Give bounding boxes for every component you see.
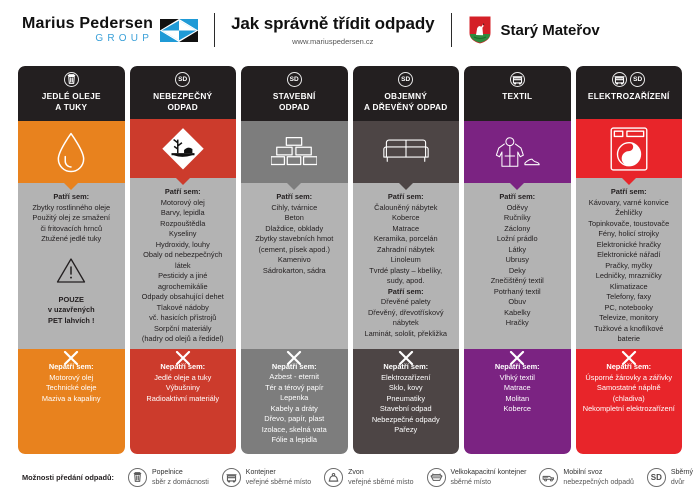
- belongs-sublabel: Patří sem:: [356, 287, 457, 298]
- belongs-item: Ložní prádlo: [467, 234, 568, 245]
- not-belongs-item: Radioaktivní materiály: [133, 394, 234, 405]
- legend-item: Popelnice sběr z domácnosti: [128, 468, 209, 487]
- not-belongs-item: Fólie a lepidla: [244, 435, 345, 446]
- legend-text: Zvon veřejné sběrné místo: [348, 468, 413, 487]
- waste-category-column[interactable]: SD NEBEZPEČNÝODPAD Patří sem: Motorový o…: [130, 66, 237, 454]
- belongs-section: Patří sem: Čalouněný nábytekKoberceMatra…: [353, 183, 460, 349]
- belongs-item: Použitý olej ze smažení: [21, 213, 122, 224]
- legend-subtitle: dvůr: [671, 478, 693, 487]
- column-title: JEDLÉ OLEJEA TUKY: [42, 91, 101, 112]
- belongs-item: Dřevěné palety: [356, 297, 457, 308]
- sd-badge: SD: [647, 468, 666, 487]
- container-icon: [510, 72, 525, 87]
- column-title-line: OBJEMNÝ: [364, 91, 448, 102]
- column-title-line: A TUKY: [42, 102, 101, 113]
- not-belongs-item: Výbušniny: [133, 383, 234, 394]
- legend-subtitle: veřejné sběrné místo: [348, 478, 413, 487]
- not-belongs-section: Nepatří sem: Vlhký textilMatraceMolitanK…: [464, 349, 571, 454]
- page-header: Marius Pedersen GROUP Jak správně třídit…: [0, 0, 700, 60]
- legend-items: Popelnice sběr z domácnosti Kontejner ve…: [128, 468, 700, 487]
- not-belongs-section: Nepatří sem: Jedlé oleje a tukyVýbušniny…: [130, 349, 237, 454]
- not-belongs-section: Nepatří sem: Motorový olejTechnické olej…: [18, 349, 125, 454]
- belongs-item: Topinkovače, toustovače: [579, 219, 680, 230]
- legend-subtitle: sběr z domácnosti: [152, 478, 209, 487]
- column-badges: SD: [398, 72, 413, 87]
- not-belongs-item: Elektrozařízení: [356, 373, 457, 384]
- belongs-label: Patří sem:: [467, 192, 568, 203]
- not-belongs-item: Nekompletní elektrozařízení: [579, 404, 680, 415]
- legend-item: Zvon veřejné sběrné místo: [324, 468, 413, 487]
- column-header: SD OBJEMNÝA DŘEVĚNÝ ODPAD: [353, 66, 460, 121]
- column-title-line: ELEKTROZAŘÍZENÍ: [588, 91, 670, 102]
- column-header: SD STAVEBNÍODPAD: [241, 66, 348, 121]
- belongs-item: Rozpouštědla: [133, 219, 234, 230]
- brand-logo-block: Marius Pedersen GROUP: [22, 16, 198, 44]
- belongs-item: Látky: [467, 245, 568, 256]
- bell-container-icon: [324, 468, 343, 487]
- belongs-item: Linoleum: [356, 255, 457, 266]
- column-title: NEBEZPEČNÝODPAD: [153, 91, 212, 112]
- column-title: OBJEMNÝA DŘEVĚNÝ ODPAD: [364, 91, 448, 112]
- municipality-name: Starý Mateřov: [501, 22, 600, 39]
- belongs-item: Laminát, sololit, překližka: [356, 329, 457, 340]
- belongs-item: Hydroxidy, louhy: [133, 240, 234, 251]
- cross-icon: [63, 351, 79, 365]
- bin-icon: [128, 468, 147, 487]
- not-belongs-section: Nepatří sem: Azbest - eternitTér a térov…: [241, 349, 348, 454]
- legend-title: Popelnice: [152, 468, 209, 477]
- belongs-label: Patří sem:: [579, 187, 680, 198]
- warning-text: POUZEv uzavřenýchPET lahvích !: [48, 295, 95, 327]
- belongs-item: Kyseliny: [133, 229, 234, 240]
- belongs-item: Dřevěný, dřevotřískový: [356, 308, 457, 319]
- sd-badge-label: SD: [178, 76, 187, 83]
- warning-text-line: POUZE: [48, 295, 95, 306]
- page-title: Jak správně třídit odpady: [231, 14, 434, 34]
- not-belongs-item: Tér a térový papír: [244, 383, 345, 394]
- warning-block: POUZEv uzavřenýchPET lahvích !: [21, 257, 122, 327]
- not-belongs-item: Motorový olej: [21, 373, 122, 384]
- belongs-label: Patří sem:: [244, 192, 345, 203]
- belongs-item: Matrace: [356, 224, 457, 235]
- notch-marker: [399, 183, 413, 190]
- legend-title: Zvon: [348, 468, 413, 477]
- cross-icon: [509, 351, 525, 365]
- not-belongs-item: Maziva a kapaliny: [21, 394, 122, 405]
- notch-marker: [510, 183, 524, 190]
- belongs-item: vč. hasicích přístrojů: [133, 313, 234, 324]
- not-belongs-item: (chladiva): [579, 394, 680, 405]
- waste-category-column[interactable]: TEXTIL Patří sem: OděvyRučníkyZáclonyLož…: [464, 66, 571, 454]
- legend-item: SD Sběrný dvůr: [647, 468, 693, 487]
- belongs-item: sudy, apod.: [356, 276, 457, 287]
- belongs-item: Potrhaný textil: [467, 287, 568, 298]
- sd-badge-label: SD: [290, 76, 299, 83]
- column-illustration: [353, 121, 460, 183]
- legend-item: Kontejner veřejné sběrné místo: [222, 468, 311, 487]
- belongs-item: Motorový olej: [133, 198, 234, 209]
- column-badges: SD: [175, 72, 190, 87]
- belongs-item: Oděvy: [467, 203, 568, 214]
- belongs-item: Pračky, myčky: [579, 261, 680, 272]
- column-title: TEXTIL: [502, 91, 532, 102]
- legend-title: Kontejner: [246, 468, 311, 477]
- belongs-item: Televize, monitory: [579, 313, 680, 324]
- belongs-item: látek: [133, 261, 234, 272]
- belongs-item: (cement, písek apod.): [244, 245, 345, 256]
- column-header: SD ELEKTROZAŘÍZENÍ: [576, 66, 683, 119]
- large-container-icon: [427, 468, 446, 487]
- belongs-item: Ručníky: [467, 213, 568, 224]
- not-belongs-item: Azbest - eternit: [244, 372, 345, 383]
- belongs-item: Klimatizace: [579, 282, 680, 293]
- legend-text: Mobilní svoz nebezpečných odpadů: [563, 468, 633, 487]
- column-title-line: ODPAD: [153, 102, 212, 113]
- not-belongs-item: Nebezpečné odpady: [356, 415, 457, 426]
- container-icon: [222, 468, 241, 487]
- belongs-item: baterie: [579, 334, 680, 345]
- belongs-item: Znečištěný textil: [467, 276, 568, 287]
- footer-lead-label: Možnosti předání odpadů:: [22, 473, 114, 482]
- column-title-line: NEBEZPEČNÝ: [153, 91, 212, 102]
- belongs-item: Ztužené jedlé tuky: [21, 234, 122, 245]
- belongs-label: Patří sem:: [356, 192, 457, 203]
- belongs-item: Ledničky, mrazničky: [579, 271, 680, 282]
- not-belongs-item: Pařezy: [356, 425, 457, 436]
- waste-category-column[interactable]: SD OBJEMNÝA DŘEVĚNÝ ODPAD Patří sem: Čal…: [353, 66, 460, 454]
- brand-group: GROUP: [22, 34, 153, 44]
- belongs-item: Tvrdé plasty – kbelíky,: [356, 266, 457, 277]
- belongs-item: Čalouněný nábytek: [356, 203, 457, 214]
- legend-title: Velkokapacitní kontejner: [451, 468, 527, 477]
- header-divider-left: [214, 13, 215, 47]
- waste-category-column[interactable]: SD STAVEBNÍODPAD Patří sem: Cihly, tvárn…: [241, 66, 348, 454]
- belongs-item: či fritovacích hrnců: [21, 224, 122, 235]
- belongs-label: Patří sem:: [133, 187, 234, 198]
- waste-category-column[interactable]: JEDLÉ OLEJEA TUKY Patří sem: Zbytky rost…: [18, 66, 125, 454]
- column-illustration: [464, 121, 571, 183]
- belongs-item: Fény, holicí strojky: [579, 229, 680, 240]
- cross-icon: [286, 351, 302, 365]
- belongs-item: Hračky: [467, 318, 568, 329]
- waste-category-grid: JEDLÉ OLEJEA TUKY Patří sem: Zbytky rost…: [18, 66, 682, 454]
- belongs-section: Patří sem: Cihly, tvárniceBetonDlaždice,…: [241, 183, 348, 349]
- warning-text-line: v uzavřených: [48, 305, 95, 316]
- sd-badge: SD: [175, 72, 190, 87]
- legend-item: Velkokapacitní kontejner sběrné místo: [427, 468, 527, 487]
- not-belongs-section: Nepatří sem: ElektrozařízeníSklo, kovyPn…: [353, 349, 460, 454]
- cross-icon: [398, 351, 414, 365]
- belongs-item: Kamenivo: [244, 255, 345, 266]
- belongs-item: Koberce: [356, 213, 457, 224]
- sd-badge: SD: [398, 72, 413, 87]
- column-illustration: [18, 121, 125, 183]
- belongs-item: Beton: [244, 213, 345, 224]
- legend-title: Sběrný: [671, 468, 693, 477]
- column-illustration: [130, 119, 237, 178]
- waste-sorting-infographic: Marius Pedersen GROUP Jak správně třídit…: [0, 0, 700, 493]
- belongs-item: Dlaždice, obklady: [244, 224, 345, 235]
- column-header: JEDLÉ OLEJEA TUKY: [18, 66, 125, 121]
- notch-marker: [287, 183, 301, 190]
- belongs-item: nábytek: [356, 318, 457, 329]
- legend-text: Velkokapacitní kontejner sběrné místo: [451, 468, 527, 487]
- not-belongs-item: Matrace: [467, 383, 568, 394]
- warning-text-line: PET lahvích !: [48, 316, 95, 327]
- belongs-item: Obuv: [467, 297, 568, 308]
- belongs-item: Tužkové a knoflíkové: [579, 324, 680, 335]
- belongs-item: Keramika, porcelán: [356, 234, 457, 245]
- belongs-item: Elektronické nářadí: [579, 250, 680, 261]
- footer-legend: Možnosti předání odpadů: Popelnice sběr …: [0, 462, 700, 493]
- cross-icon: [621, 351, 637, 365]
- belongs-item: Deky: [467, 266, 568, 277]
- column-title-line: STAVEBNÍ: [273, 91, 316, 102]
- not-belongs-item: Molitan: [467, 394, 568, 405]
- belongs-item: Zahradní nábytek: [356, 245, 457, 256]
- belongs-item: Obaly od nebezpečných: [133, 250, 234, 261]
- not-belongs-item: Pneumatiky: [356, 394, 457, 405]
- legend-text: Popelnice sběr z domácnosti: [152, 468, 209, 487]
- legend-subtitle: veřejné sběrné místo: [246, 478, 311, 487]
- column-title-line: JEDLÉ OLEJE: [42, 91, 101, 102]
- legend-item: Mobilní svoz nebezpečných odpadů: [539, 468, 633, 487]
- belongs-item: Sorpční materiály: [133, 324, 234, 335]
- not-belongs-item: Izolace, skelná vata: [244, 425, 345, 436]
- not-belongs-item: Jedlé oleje a tuky: [133, 373, 234, 384]
- belongs-item: Elektronické hračky: [579, 240, 680, 251]
- belongs-item: Zbytky rostlinného oleje: [21, 203, 122, 214]
- column-title-line: ODPAD: [273, 102, 316, 113]
- belongs-item: Zbytky stavebních hmot: [244, 234, 345, 245]
- municipal-crest-icon: [468, 15, 492, 45]
- column-title-line: TEXTIL: [502, 91, 532, 102]
- belongs-item: Odpady obsahující dehet: [133, 292, 234, 303]
- belongs-item: Kávovary, varné konvice: [579, 198, 680, 209]
- belongs-item: Cihly, tvárnice: [244, 203, 345, 214]
- sd-badge: SD: [287, 72, 302, 87]
- brand-text: Marius Pedersen GROUP: [22, 16, 153, 44]
- website-url: www.mariuspedersen.cz: [231, 37, 434, 46]
- not-belongs-item: Vlhký textil: [467, 373, 568, 384]
- column-title: ELEKTROZAŘÍZENÍ: [588, 91, 670, 102]
- not-belongs-section: Nepatří sem: Úsporné žárovky a zářivkySa…: [576, 349, 683, 454]
- not-belongs-item: Dřevo, papír, plast: [244, 414, 345, 425]
- belongs-item: Sádrokarton, sádra: [244, 266, 345, 277]
- belongs-item: Ubrusy: [467, 255, 568, 266]
- belongs-item: Záclony: [467, 224, 568, 235]
- belongs-item: Pesticidy a jiné: [133, 271, 234, 282]
- column-badges: SD: [612, 72, 645, 87]
- warning-triangle-icon: [56, 257, 86, 284]
- belongs-item: Tlakové nádoby: [133, 303, 234, 314]
- not-belongs-item: Technické oleje: [21, 383, 122, 394]
- belongs-item: PC, notebooky: [579, 303, 680, 314]
- not-belongs-item: Stavební odpad: [356, 404, 457, 415]
- notch-marker: [176, 178, 190, 185]
- belongs-section: Patří sem: OděvyRučníkyZáclonyLožní prád…: [464, 183, 571, 349]
- belongs-item: Barvy, lepidla: [133, 208, 234, 219]
- not-belongs-item: Kabely a dráty: [244, 404, 345, 415]
- belongs-section: Patří sem: Motorový olejBarvy, lepidlaRo…: [130, 178, 237, 349]
- brand-name: Marius Pedersen: [22, 16, 153, 32]
- column-badges: [64, 72, 79, 87]
- column-badges: [510, 72, 525, 87]
- legend-text: Sběrný dvůr: [671, 468, 693, 487]
- not-belongs-item: Sklo, kovy: [356, 383, 457, 394]
- column-header: TEXTIL: [464, 66, 571, 121]
- legend-subtitle: sběrné místo: [451, 478, 527, 487]
- sd-badge: SD: [630, 72, 645, 87]
- column-illustration: [576, 119, 683, 178]
- legend-title: Mobilní svoz: [563, 468, 633, 477]
- belongs-item: Telefony, faxy: [579, 292, 680, 303]
- not-belongs-item: Lepenka: [244, 393, 345, 404]
- sd-badge-label: SD: [633, 76, 642, 83]
- not-belongs-item: Samostatné náplně: [579, 383, 680, 394]
- not-belongs-item: Koberce: [467, 404, 568, 415]
- cross-icon: [175, 351, 191, 365]
- column-illustration: [241, 121, 348, 183]
- legend-text: Kontejner veřejné sběrné místo: [246, 468, 311, 487]
- belongs-item: agrochemikálie: [133, 282, 234, 293]
- belongs-item: (hadry od olejů a ředidel): [133, 334, 234, 345]
- legend-subtitle: nebezpečných odpadů: [563, 478, 633, 487]
- not-belongs-item: Úsporné žárovky a zářivky: [579, 373, 680, 384]
- column-header: SD NEBEZPEČNÝODPAD: [130, 66, 237, 119]
- notch-marker: [64, 183, 78, 190]
- column-badges: SD: [287, 72, 302, 87]
- container-icon: [612, 72, 627, 87]
- belongs-item: Žehličky: [579, 208, 680, 219]
- belongs-label: Patří sem:: [21, 192, 122, 203]
- waste-category-column[interactable]: SD ELEKTROZAŘÍZENÍ Patří sem: Kávovary, …: [576, 66, 683, 454]
- truck-icon: [539, 468, 558, 487]
- sd-badge-label: SD: [651, 473, 662, 482]
- column-title-line: A DŘEVĚNÝ ODPAD: [364, 102, 448, 113]
- bin-icon: [64, 72, 79, 87]
- municipality-block: Starý Mateřov: [468, 15, 600, 45]
- notch-marker: [622, 178, 636, 185]
- belongs-item: Kabelky: [467, 308, 568, 319]
- title-block: Jak správně třídit odpady www.mariuspede…: [231, 14, 434, 46]
- marius-pedersen-logo-icon: [160, 19, 198, 42]
- belongs-section: Patří sem: Kávovary, varné konviceŽehlič…: [576, 178, 683, 349]
- column-title: STAVEBNÍODPAD: [273, 91, 316, 112]
- belongs-section: Patří sem: Zbytky rostlinného olejePouži…: [18, 183, 125, 349]
- header-divider-right: [451, 13, 452, 47]
- sd-badge-label: SD: [401, 76, 410, 83]
